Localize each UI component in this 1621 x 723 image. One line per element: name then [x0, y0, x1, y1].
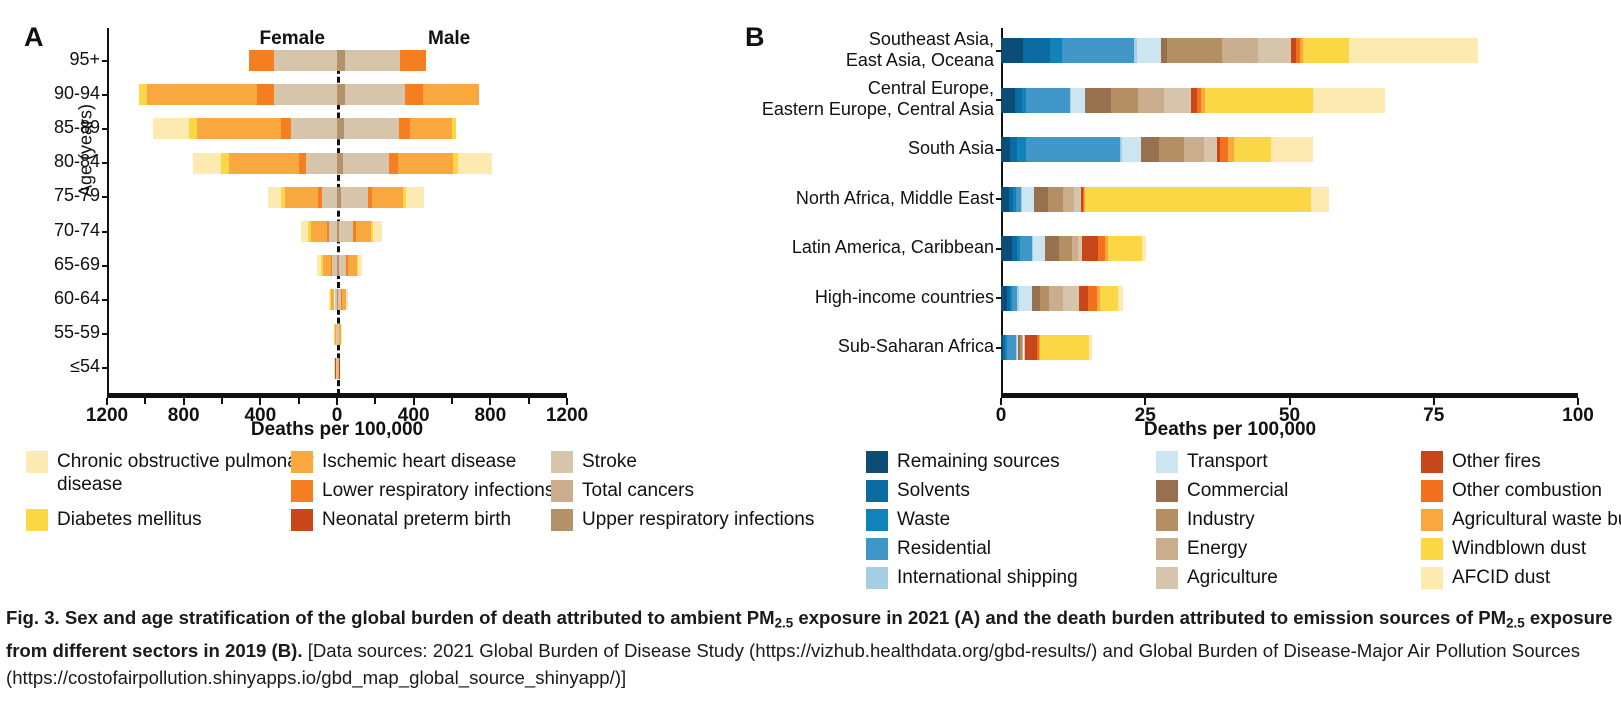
panel-b-segment	[1063, 187, 1074, 212]
legend-color-swatch	[866, 480, 888, 502]
panel-a-bar-female	[329, 289, 337, 310]
panel-a-age-label: 60-64	[54, 288, 100, 309]
panel-b-segment	[1234, 137, 1272, 162]
panel-b-bar	[1001, 88, 1385, 113]
panel-a-segment	[341, 187, 368, 208]
panel-b-segment	[1026, 137, 1121, 162]
panel-b-legend-item[interactable]: Other fires	[1421, 450, 1621, 473]
legend-color-swatch	[291, 509, 313, 531]
panel-b-x-tick-label: 100	[1562, 405, 1594, 427]
panel-a-age-label: 55-59	[54, 322, 100, 343]
legend-label: Residential	[897, 537, 991, 560]
legend-color-swatch	[1421, 538, 1443, 560]
panel-b-segment	[1079, 286, 1088, 311]
panel-a-segment	[337, 84, 345, 105]
panel-b-bar	[1001, 236, 1146, 261]
panel-a-x-minor-tick	[221, 398, 223, 404]
panel-b-bar	[1001, 335, 1092, 360]
panel-b-y-tick	[996, 198, 1002, 200]
panel-a-legend-item[interactable]: Chronic obstructive pulmonary disease	[26, 450, 316, 496]
panel-a-segment	[323, 255, 331, 276]
panel-b-legend-item[interactable]: Commercial	[1156, 479, 1446, 502]
panel-a-age-label: 75-79	[54, 185, 100, 206]
panel-a-bar-male	[337, 221, 382, 242]
panel-a-y-tick	[102, 231, 108, 233]
panel-b-bar	[1001, 286, 1123, 311]
panel-b-segment	[1164, 88, 1191, 113]
panel-b-segment	[1026, 88, 1069, 113]
panel-b-segment	[1088, 286, 1097, 311]
panel-b-letter: B	[745, 22, 764, 53]
panel-b-x-tick	[1433, 398, 1435, 405]
panel-b-segment	[1222, 38, 1258, 63]
panel-a-y-tick	[102, 333, 108, 335]
panel-a-segment	[268, 187, 281, 208]
panel-a-segment	[221, 153, 228, 174]
legend-label: Ischemic heart disease	[322, 450, 516, 473]
panel-a-bar-female	[153, 118, 337, 139]
legend-color-swatch	[26, 451, 48, 473]
panel-a-segment	[356, 221, 371, 242]
panel-a-segment	[358, 255, 362, 276]
panel-b-segment	[1071, 88, 1085, 113]
panel-b-x-tick	[1144, 398, 1146, 405]
panel-a-segment	[329, 221, 337, 242]
panel-b-region-label: Southeast Asia,East Asia, Oceana	[846, 29, 994, 71]
panel-a-segment	[274, 84, 337, 105]
legend-label: Transport	[1187, 450, 1268, 473]
panel-b-x-tick	[1577, 398, 1579, 405]
panel-b-segment	[1137, 38, 1161, 63]
panel-b-legend-item[interactable]: Industry	[1156, 508, 1446, 531]
panel-a-y-tick	[102, 128, 108, 130]
panel-a-segment	[399, 118, 411, 139]
panel-b-legend-item[interactable]: Transport	[1156, 450, 1446, 473]
panel-a-legend-item[interactable]: Ischemic heart disease	[291, 450, 581, 473]
panel-b-segment	[1184, 137, 1204, 162]
legend-color-swatch	[866, 538, 888, 560]
panel-b-segment	[1258, 38, 1290, 63]
legend-label: Upper respiratory infections	[582, 508, 814, 531]
panel-b-segment	[1118, 286, 1123, 311]
legend-color-swatch	[1156, 538, 1178, 560]
panel-b-segment	[1141, 137, 1159, 162]
panel-a-segment	[452, 118, 455, 139]
panel-a-bar-female	[249, 50, 337, 71]
legend-color-swatch	[866, 509, 888, 531]
legend-label: Total cancers	[582, 479, 694, 502]
panel-a-x-minor-tick	[528, 398, 530, 404]
panel-b-segment	[1045, 236, 1058, 261]
panel-a-bar-female	[139, 84, 337, 105]
panel-a-age-label: 90-94	[54, 83, 100, 104]
panel-b-segment	[1063, 286, 1079, 311]
panel-a-bar-male	[337, 324, 342, 345]
panel-a-legend-item[interactable]: Neonatal preterm birth	[291, 508, 581, 531]
panel-a-x-tick-label: 800	[474, 405, 506, 427]
panel-a-segment	[197, 118, 281, 139]
panel-a-bar-male	[337, 255, 362, 276]
panel-a-bar-female	[317, 255, 337, 276]
panel-b-segment	[1017, 137, 1026, 162]
panel-a-segment	[311, 221, 327, 242]
panel-b-x-axis-title: Deaths per 100,000	[1144, 419, 1316, 441]
panel-b-region-label: High-income countries	[815, 287, 994, 308]
panel-a-segment	[423, 84, 480, 105]
panel-b-segment	[1142, 236, 1147, 261]
panel-a-segment	[229, 153, 300, 174]
panel-b-segment	[1303, 38, 1349, 63]
panel-a-segment	[410, 118, 452, 139]
panel-a-segment	[346, 289, 348, 310]
legend-label: Waste	[897, 508, 950, 531]
panel-b-segment	[1085, 187, 1311, 212]
panel-a-segment	[339, 358, 340, 379]
legend-color-swatch	[551, 451, 573, 473]
panel-a-x-tick-label: 800	[168, 405, 200, 427]
panel-a-y-tick	[102, 196, 108, 198]
panel-a-segment	[372, 187, 403, 208]
panel-a-y-axis	[107, 28, 109, 393]
panel-b-segment	[1040, 335, 1089, 360]
panel-a-legend-item[interactable]: Lower respiratory infections	[291, 479, 581, 502]
panel-a-segment	[406, 187, 424, 208]
panel-a-legend-item[interactable]: Stroke	[551, 450, 851, 473]
panel-b-segment	[1349, 38, 1478, 63]
legend-label: Energy	[1187, 537, 1247, 560]
panel-b-segment	[1019, 286, 1031, 311]
panel-b-segment	[1001, 88, 1015, 113]
panel-b-segment	[1108, 236, 1141, 261]
legend-label: Chronic obstructive pulmonary disease	[57, 450, 316, 496]
panel-b-legend-item[interactable]: Other combustion	[1421, 479, 1621, 502]
panel-b-segment	[1062, 38, 1134, 63]
panel-b-segment	[1138, 88, 1165, 113]
panel-b-region-label: Sub-Saharan Africa	[838, 336, 994, 357]
panel-b-segment	[1204, 137, 1218, 162]
legend-color-swatch	[866, 451, 888, 473]
panel-a-segment	[458, 153, 492, 174]
panel-a-segment	[285, 187, 318, 208]
legend-label: Neonatal preterm birth	[322, 508, 511, 531]
legend-label: Industry	[1187, 508, 1255, 531]
panel-b-segment	[1023, 38, 1050, 63]
legend-label: Agricultural waste burning	[1452, 508, 1621, 531]
panel-b-segment	[1271, 137, 1313, 162]
legend-color-swatch	[1156, 451, 1178, 473]
panel-b-segment	[1049, 286, 1063, 311]
legend-label: Remaining sources	[897, 450, 1060, 473]
legend-color-swatch	[1421, 567, 1443, 589]
panel-b-segment	[1313, 88, 1385, 113]
panel-a-segment	[193, 153, 221, 174]
panel-a-x-tick	[183, 398, 185, 405]
panel-a-segment	[139, 84, 147, 105]
legend-label: Diabetes mellitus	[57, 508, 202, 531]
panel-a-bar-male	[337, 84, 479, 105]
panel-a-x-axis-title: Deaths per 100,000	[251, 419, 423, 441]
panel-a-segment	[147, 84, 257, 105]
panel-a-female-label: Female	[260, 28, 325, 50]
panel-b-region-label: Latin America, Caribbean	[792, 237, 994, 258]
panel-b-legend-item[interactable]: Solvents	[866, 479, 1156, 502]
legend-color-swatch	[1156, 567, 1178, 589]
panel-a-segment	[299, 153, 306, 174]
panel-a-segment	[373, 221, 382, 242]
panel-b-segment	[1100, 286, 1117, 311]
panel-a-segment	[291, 118, 337, 139]
panel-a-y-tick	[102, 265, 108, 267]
panel-b-legend-item[interactable]: Energy	[1156, 537, 1446, 560]
panel-b-legend-item[interactable]: International shipping	[866, 566, 1156, 589]
panel-b-segment	[1048, 187, 1062, 212]
panel-a-segment	[400, 50, 425, 71]
panel-b-segment	[1205, 88, 1313, 113]
panel-b-legend-item[interactable]: Residential	[866, 537, 1156, 560]
panel-a-x-tick	[259, 398, 261, 405]
figure-caption: Fig. 3. Sex and age stratification of th…	[6, 604, 1615, 691]
panel-a-segment	[339, 221, 353, 242]
panel-b-segment	[1059, 236, 1072, 261]
panel-a-segment	[322, 187, 337, 208]
panel-b-x-tick-label: 0	[996, 405, 1007, 427]
panel-a-letter: A	[24, 22, 43, 53]
panel-b-segment	[1122, 137, 1141, 162]
panel-a-segment	[337, 118, 344, 139]
panel-a-bar-male	[337, 153, 492, 174]
figure-root: A Age (years) Female Male 95+90-9485-898…	[0, 0, 1621, 723]
panel-a-bar-female	[268, 187, 337, 208]
panel-a-segment	[301, 221, 308, 242]
legend-color-swatch	[1421, 451, 1443, 473]
panel-a-segment	[337, 50, 345, 71]
panel-a-age-label: 85-89	[54, 117, 100, 138]
panel-a-segment	[405, 84, 423, 105]
panel-a-age-label: 65-69	[54, 254, 100, 275]
panel-b-segment	[1033, 236, 1046, 261]
panel-a-bar-male	[337, 358, 340, 379]
legend-color-swatch	[26, 509, 48, 531]
panel-a-male-label: Male	[428, 28, 470, 50]
panel-a-y-tick	[102, 299, 108, 301]
panel-b-segment	[1040, 286, 1049, 311]
panel-b-segment	[1167, 38, 1222, 63]
panel-a-segment	[345, 84, 406, 105]
panel-a-bar-female	[193, 153, 337, 174]
panel-b-segment	[1001, 38, 1023, 63]
panel-a-x-tick-label: 1200	[546, 405, 588, 427]
panel-a-legend-item[interactable]: Upper respiratory infections	[551, 508, 851, 531]
panel-a-age-label: ≤54	[70, 356, 100, 377]
panel-b-legend-item[interactable]: Windblown dust	[1421, 537, 1621, 560]
panel-a-age-label: 80-84	[54, 151, 100, 172]
panel-a-legend-item[interactable]: Total cancers	[551, 479, 851, 502]
panel-b-y-tick	[996, 99, 1002, 101]
legend-color-swatch	[291, 480, 313, 502]
panel-a-segment	[249, 50, 274, 71]
panel-b-segment	[1022, 187, 1034, 212]
panel-b-segment	[1111, 88, 1138, 113]
panel-a-segment	[339, 255, 347, 276]
panel-a-x-tick	[336, 398, 338, 405]
panel-b-x-tick-label: 75	[1423, 405, 1444, 427]
legend-label: Other combustion	[1452, 479, 1602, 502]
panel-a-x-minor-tick	[451, 398, 453, 404]
panel-a-segment	[257, 84, 273, 105]
legend-color-swatch	[1421, 509, 1443, 531]
panel-a-segment	[281, 118, 291, 139]
panel-a-legend-item[interactable]: Diabetes mellitus	[26, 508, 316, 531]
legend-label: Other fires	[1452, 450, 1541, 473]
panel-b-bar	[1001, 187, 1329, 212]
panel-a-y-tick	[102, 60, 108, 62]
panel-b-segment	[1001, 236, 1012, 261]
legend-label: Stroke	[582, 450, 637, 473]
panel-b-y-tick	[996, 347, 1002, 349]
panel-a-y-tick	[102, 367, 108, 369]
panel-b-bar	[1001, 38, 1478, 63]
panel-b-y-tick	[996, 248, 1002, 250]
panel-a-segment	[348, 255, 357, 276]
panel-b-legend-item[interactable]: Waste	[866, 508, 1156, 531]
legend-color-swatch	[551, 509, 573, 531]
panel-a-bar-female	[301, 221, 337, 242]
panel-b-y-tick	[996, 149, 1002, 151]
panel-b-legend: Remaining sourcesSolventsWasteResidentia…	[866, 450, 1611, 590]
panel-a-x-tick	[489, 398, 491, 405]
panel-a-bar-male	[337, 50, 426, 71]
legend-color-swatch	[1156, 480, 1178, 502]
panel-a-segment	[153, 118, 188, 139]
panel-b-segment	[1085, 88, 1110, 113]
panel-a-legend: Chronic obstructive pulmonary diseaseDia…	[26, 450, 746, 580]
panel-a-x-tick	[566, 398, 568, 405]
panel-a-x-tick	[413, 398, 415, 405]
panel-b-legend-item[interactable]: Agriculture	[1156, 566, 1446, 589]
panel-b-segment	[1074, 187, 1082, 212]
panel-a-segment	[389, 153, 398, 174]
panel-a-segment	[398, 153, 454, 174]
panel-b-legend-item[interactable]: Remaining sources	[866, 450, 1156, 473]
panel-b-region-label: South Asia	[908, 138, 994, 159]
panel-b-bar	[1001, 137, 1313, 162]
legend-label: Commercial	[1187, 479, 1288, 502]
panel-b-y-tick	[996, 50, 1002, 52]
panel-a-y-tick	[102, 162, 108, 164]
panel-b-segment	[1015, 88, 1023, 113]
legend-color-swatch	[291, 451, 313, 473]
legend-label: Solvents	[897, 479, 970, 502]
panel-b-segment	[1050, 38, 1062, 63]
panel-a-x-tick-label: 1200	[86, 405, 128, 427]
legend-label: Windblown dust	[1452, 537, 1586, 560]
panel-b-segment	[1311, 187, 1328, 212]
panel-a-x-minor-tick	[374, 398, 376, 404]
panel-b-region-label: North Africa, Middle East	[796, 188, 994, 209]
legend-label: AFCID dust	[1452, 566, 1550, 589]
panel-a-bar-male	[337, 187, 424, 208]
legend-color-swatch	[551, 480, 573, 502]
panel-a-y-tick	[102, 94, 108, 96]
legend-color-swatch	[1421, 480, 1443, 502]
panel-a-segment	[341, 324, 342, 345]
panel-b-segment	[1025, 335, 1038, 360]
panel-b-segment	[1007, 335, 1016, 360]
legend-label: International shipping	[897, 566, 1078, 589]
panel-b-segment	[1220, 137, 1228, 162]
legend-color-swatch	[1156, 509, 1178, 531]
panel-a-x-minor-tick	[144, 398, 146, 404]
panel-a-segment	[274, 50, 337, 71]
panel-b-x-tick	[1289, 398, 1291, 405]
panel-b-segment	[1010, 137, 1017, 162]
panel-b-segment	[1098, 236, 1106, 261]
panel-b-segment	[1034, 187, 1048, 212]
panel-a-age-label: 95+	[69, 49, 100, 70]
panel-b-segment	[1159, 137, 1184, 162]
panel-a-segment	[345, 50, 401, 71]
panel-b-y-tick	[996, 297, 1002, 299]
panel-a-x-tick	[106, 398, 108, 405]
panel-b-region-label: Central Europe,Eastern Europe, Central A…	[762, 78, 994, 120]
panel-a-age-label: 70-74	[54, 220, 100, 241]
legend-label: Lower respiratory infections	[322, 479, 554, 502]
panel-a-segment	[306, 153, 337, 174]
legend-color-swatch	[866, 567, 888, 589]
panel-a-segment	[189, 118, 197, 139]
panel-a-segment	[343, 153, 389, 174]
panel-b-x-tick	[1000, 398, 1002, 405]
panel-a-segment	[344, 118, 399, 139]
panel-b-segment	[1001, 137, 1010, 162]
panel-b-segment	[1001, 187, 1009, 212]
panel-b-legend-item[interactable]: Agricultural waste burning	[1421, 508, 1621, 531]
legend-label: Agriculture	[1187, 566, 1278, 589]
panel-b-segment	[1089, 335, 1091, 360]
panel-b-segment	[1020, 236, 1032, 261]
panel-a-bar-male	[337, 289, 348, 310]
panel-b-legend-item[interactable]: AFCID dust	[1421, 566, 1621, 589]
panel-b-segment	[1082, 236, 1098, 261]
panel-a-x-minor-tick	[298, 398, 300, 404]
panel-a-bar-male	[337, 118, 456, 139]
panel-b-segment	[1032, 286, 1040, 311]
